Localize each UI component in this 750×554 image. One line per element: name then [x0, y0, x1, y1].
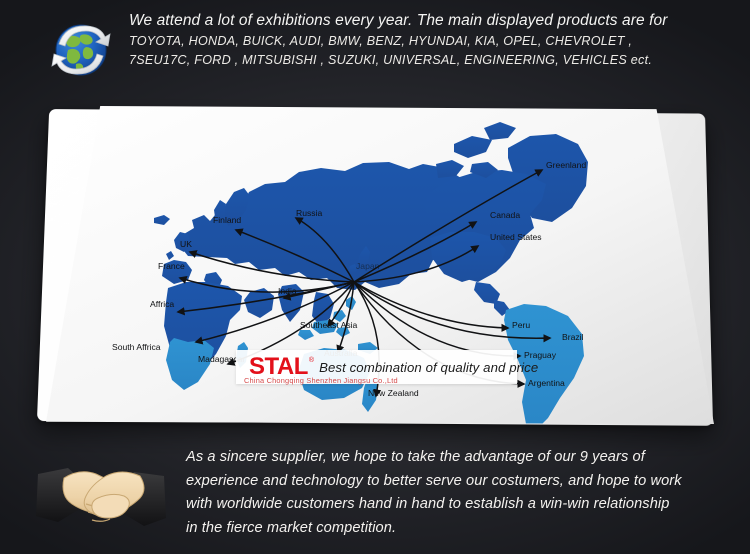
- logo-subline: China Chongqing Shenzhen Jiangsu Co.,Ltd: [244, 376, 514, 385]
- footer-line-2: experience and technology to better serv…: [186, 470, 706, 494]
- logo-banner: STAL ® Best combination of quality and p…: [236, 350, 517, 384]
- globe-arrow-icon: [48, 17, 114, 83]
- header-text-block: We attend a lot of exhibitions every yea…: [129, 10, 729, 70]
- map-label-new-zealand: New Zealand: [368, 388, 419, 398]
- map-label-india: India: [278, 286, 297, 296]
- map-section: Finland Russia UK France Affrica South A…: [0, 100, 750, 430]
- map-label-argentina: Argentina: [528, 378, 565, 388]
- map-label-southeast-asia: Southeast Asia: [300, 320, 358, 330]
- map-label-peru: Peru: [512, 320, 530, 330]
- header-line-3: 7SEU17C, FORD , MITSUBISHI , SUZUKI, UNI…: [129, 51, 729, 70]
- map-label-united-states: United States: [490, 232, 542, 242]
- footer-line-4: in the fierce market competition.: [186, 517, 706, 541]
- registered-trademark-icon: ®: [309, 357, 314, 364]
- header-line-1: We attend a lot of exhibitions every yea…: [129, 10, 729, 32]
- handshake-icon: [36, 446, 166, 538]
- header-section: We attend a lot of exhibitions every yea…: [0, 0, 750, 96]
- promo-banner: We attend a lot of exhibitions every yea…: [0, 0, 750, 554]
- footer-line-3: with worldwide customers hand in hand to…: [186, 493, 706, 517]
- header-line-2: TOYOTA, HONDA, BUICK, AUDI, BMW, BENZ, H…: [129, 32, 729, 51]
- footer-text-block: As a sincere supplier, we hope to take t…: [186, 446, 706, 540]
- map-label-canada: Canada: [490, 210, 520, 220]
- map-label-south-affrica: South Affrica: [112, 342, 161, 352]
- footer-section: As a sincere supplier, we hope to take t…: [0, 432, 750, 554]
- logo-tagline: Best combination of quality and price: [319, 360, 538, 375]
- map-label-uk: UK: [180, 239, 192, 249]
- footer-line-1: As a sincere supplier, we hope to take t…: [186, 446, 706, 470]
- map-label-france: France: [158, 261, 185, 271]
- map-label-greenland: Greenland: [546, 160, 586, 170]
- map-label-japan: Japan: [356, 261, 380, 271]
- map-label-russia: Russia: [296, 208, 322, 218]
- map-label-brazil: Brazil: [562, 332, 584, 342]
- map-label-affrica: Affrica: [150, 299, 174, 309]
- map-label-finland: Finland: [213, 215, 241, 225]
- map-label-praguay: Praguay: [524, 350, 557, 360]
